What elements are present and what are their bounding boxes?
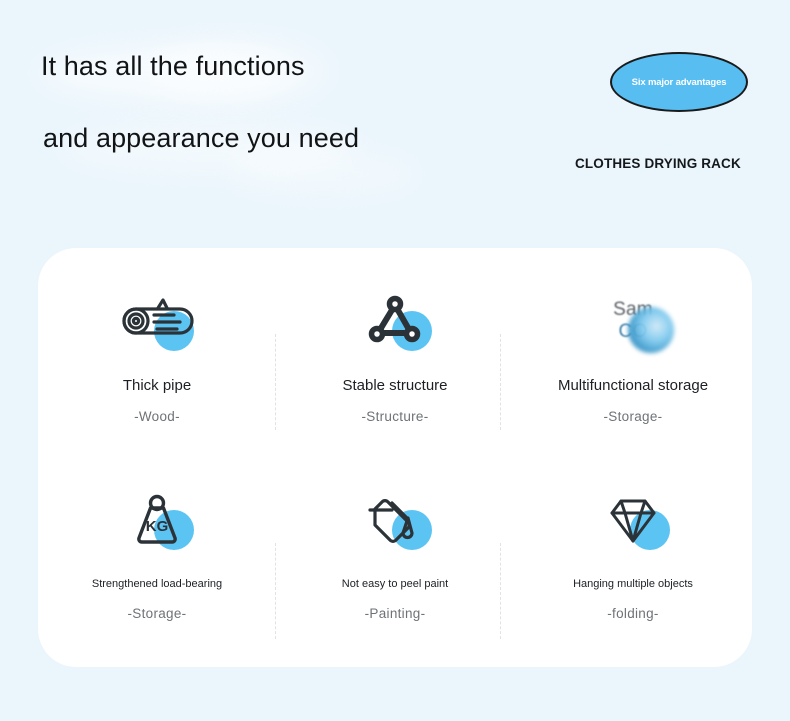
kg-icon-label: KG xyxy=(146,518,169,535)
feature-icon-wrap xyxy=(114,287,200,355)
column-divider xyxy=(275,543,277,639)
watermark-logo-icon: Sam CO xyxy=(590,287,676,355)
column-divider xyxy=(500,543,502,639)
diamond-icon xyxy=(599,491,667,549)
feature-cell-load-bearing: KG Strengthened load-bearing -Storage- xyxy=(38,458,276,668)
feature-icon-wrap: KG xyxy=(114,486,200,554)
page-title: It has all the functions and appearance … xyxy=(40,52,560,153)
features-grid: Thick pipe -Wood- xyxy=(38,248,752,667)
feature-subtitle: -Wood- xyxy=(134,409,180,424)
node-triangle-icon xyxy=(364,293,426,349)
feature-title: Hanging multiple objects xyxy=(573,578,693,590)
feature-subtitle: -Structure- xyxy=(361,409,428,424)
headline-glow xyxy=(230,150,420,198)
feature-title: Thick pipe xyxy=(123,377,191,394)
feature-subtitle: -Storage- xyxy=(604,409,663,424)
headline-line-1: It has all the functions xyxy=(40,52,560,80)
feature-icon-wrap xyxy=(352,486,438,554)
feature-cell-thick-pipe: Thick pipe -Wood- xyxy=(38,248,276,458)
feature-cell-multifunctional-storage: Sam CO Multifunctional storage -Storage- xyxy=(514,248,752,458)
column-divider xyxy=(275,334,277,430)
feature-title: Multifunctional storage xyxy=(558,377,708,394)
features-card: Thick pipe -Wood- xyxy=(38,248,752,667)
feature-cell-stable-structure: Stable structure -Structure- xyxy=(276,248,514,458)
advantages-badge-label: Six major advantages xyxy=(632,77,727,88)
feature-title: Strengthened load-bearing xyxy=(92,578,222,590)
feature-icon-wrap xyxy=(590,486,676,554)
log-icon xyxy=(117,295,197,347)
feature-title: Not easy to peel paint xyxy=(342,578,448,590)
kg-weight-icon: KG xyxy=(127,491,187,549)
page-header: It has all the functions and appearance … xyxy=(0,0,790,236)
feature-icon-wrap xyxy=(352,287,438,355)
brand-label: CLOTHES DRYING RACK xyxy=(575,156,775,171)
feature-title: Stable structure xyxy=(342,377,447,394)
feature-cell-peel-paint: Not easy to peel paint -Painting- xyxy=(276,458,514,668)
watermark-blob xyxy=(628,307,674,353)
column-divider xyxy=(500,334,502,430)
advantages-badge: Six major advantages xyxy=(610,52,748,112)
feature-subtitle: -Painting- xyxy=(365,606,426,621)
feature-subtitle: -Storage- xyxy=(128,606,187,621)
feature-subtitle: -folding- xyxy=(607,606,658,621)
headline-line-2: and appearance you need xyxy=(40,124,560,152)
feature-cell-hanging-objects: Hanging multiple objects -folding- xyxy=(514,458,752,668)
paint-bucket-icon xyxy=(362,491,428,549)
feature-icon-wrap: Sam CO xyxy=(590,287,676,355)
